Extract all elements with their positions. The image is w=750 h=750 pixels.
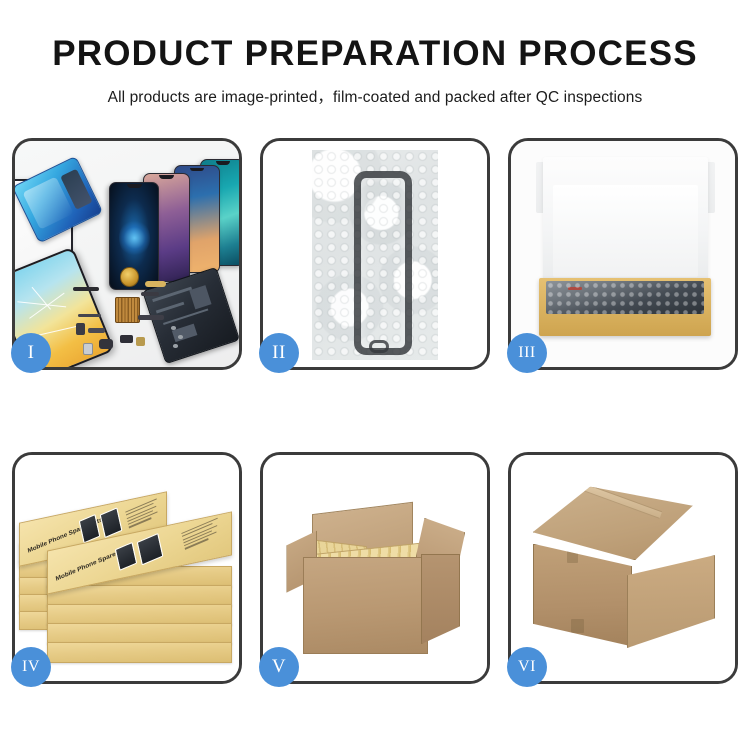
step-badge-4: IV — [11, 647, 51, 687]
step-badge-1: I — [11, 333, 51, 373]
home-button-icon — [369, 340, 389, 353]
process-step-grid: I II — [12, 138, 738, 684]
sealed-carton-icon — [529, 487, 717, 650]
packing-tape-icon — [555, 473, 662, 519]
step-image-bubble-wrap — [263, 141, 487, 367]
page-subtitle: All products are image-printed，film-coat… — [0, 73, 750, 107]
product-preparation-infographic: PRODUCT PREPARATION PROCESS All products… — [0, 0, 750, 750]
step-panel-4: Mobile Phone Spare Parts Mobile Phone Sp… — [12, 452, 242, 684]
step-image-inner-box-packing — [511, 141, 735, 367]
step-panel-1: I — [12, 138, 242, 370]
step-badge-5: V — [259, 647, 299, 687]
phone-screen-outline-icon — [354, 171, 412, 355]
spare-parts-icon — [73, 272, 189, 362]
step-image-carton-filling — [263, 455, 487, 681]
step-image-carton-sealed — [511, 455, 735, 681]
kraft-tray-icon — [539, 278, 711, 336]
step-panel-3: III — [508, 138, 738, 370]
bubble-wrap-icon — [312, 150, 437, 360]
step-panel-5: V — [260, 452, 490, 684]
step-image-products-and-parts — [15, 141, 239, 367]
kraft-box-stack-icon: Mobile Phone Spare Parts Mobile Phone Sp… — [19, 482, 234, 672]
step-badge-2: II — [259, 333, 299, 373]
header: PRODUCT PREPARATION PROCESS All products… — [0, 0, 750, 107]
open-kraft-box-icon — [536, 157, 715, 338]
page-title: PRODUCT PREPARATION PROCESS — [0, 0, 750, 73]
step-panel-2: II — [260, 138, 490, 370]
step-badge-6: VI — [507, 647, 547, 687]
foam-padding-icon — [543, 157, 708, 287]
step-panel-6: VI — [508, 452, 738, 684]
wrapped-screen-icon — [546, 281, 704, 313]
open-carton-icon — [290, 496, 460, 654]
step-image-boxes-stacked: Mobile Phone Spare Parts Mobile Phone Sp… — [15, 455, 239, 681]
step-badge-3: III — [507, 333, 547, 373]
